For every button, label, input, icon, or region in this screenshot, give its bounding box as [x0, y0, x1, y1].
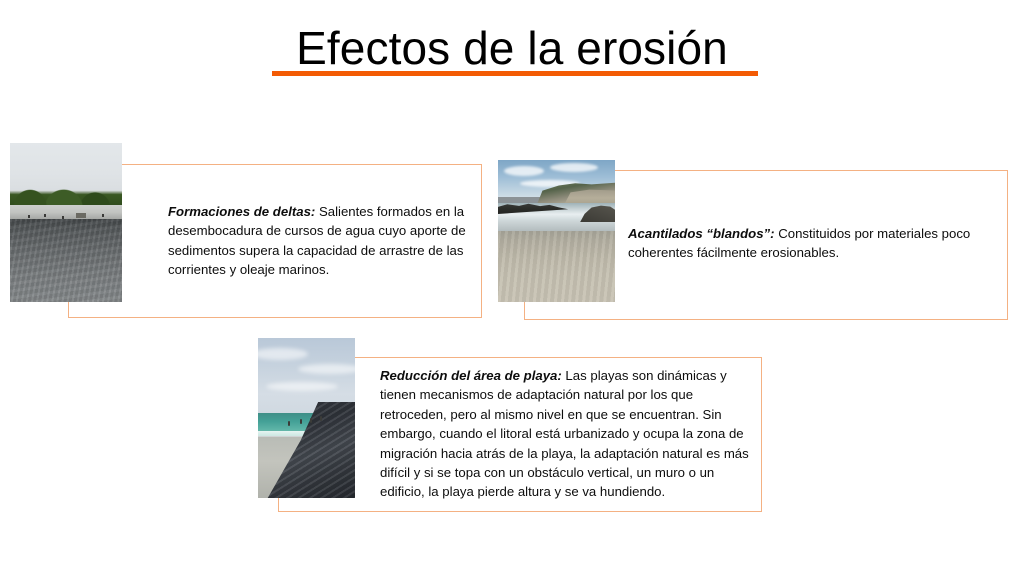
beach-reduction-photo-figure: [288, 421, 290, 426]
card-text-formaciones-de-deltas: Formaciones de deltas: Salientes formado…: [168, 202, 470, 280]
delta-photo-water-texture: [10, 219, 122, 302]
soft-cliffs-photo: [498, 160, 615, 302]
page-title: Efectos de la erosión: [0, 22, 1024, 74]
delta-photo-figure: [62, 216, 64, 219]
soft-cliffs-photo-cloud: [504, 166, 544, 176]
card-text-acantilados-blandos: Acantilados “blandos”: Constituidos por …: [628, 224, 1000, 263]
card-lead-formaciones-de-deltas: Formaciones de deltas:: [168, 204, 315, 219]
beach-reduction-photo-figure: [310, 418, 312, 423]
delta-photo-figure: [28, 215, 30, 218]
title-underline-rule: [272, 71, 758, 76]
beach-reduction-photo-figure: [300, 419, 302, 424]
delta-photo-boat: [76, 213, 86, 218]
card-text-reduccion-area-de-playa: Reducción del área de playa: Las playas …: [380, 366, 750, 502]
beach-reduction-photo-cloud: [298, 364, 355, 374]
card-lead-reduccion-area-de-playa: Reducción del área de playa:: [380, 368, 562, 383]
soft-cliffs-photo-cloud: [550, 163, 598, 172]
beach-reduction-photo-cloud: [266, 382, 338, 391]
delta-photo: [10, 143, 122, 302]
card-body-reduccion-area-de-playa: Las playas son dinámicas y tienen mecani…: [380, 368, 749, 499]
delta-photo-figure: [44, 214, 46, 217]
delta-photo-figure: [102, 214, 104, 217]
beach-reduction-photo-figure: [320, 416, 322, 421]
soft-cliffs-photo-beach-texture: [498, 231, 615, 302]
card-lead-acantilados-blandos: Acantilados “blandos”:: [628, 226, 775, 241]
beach-reduction-photo: [258, 338, 355, 498]
